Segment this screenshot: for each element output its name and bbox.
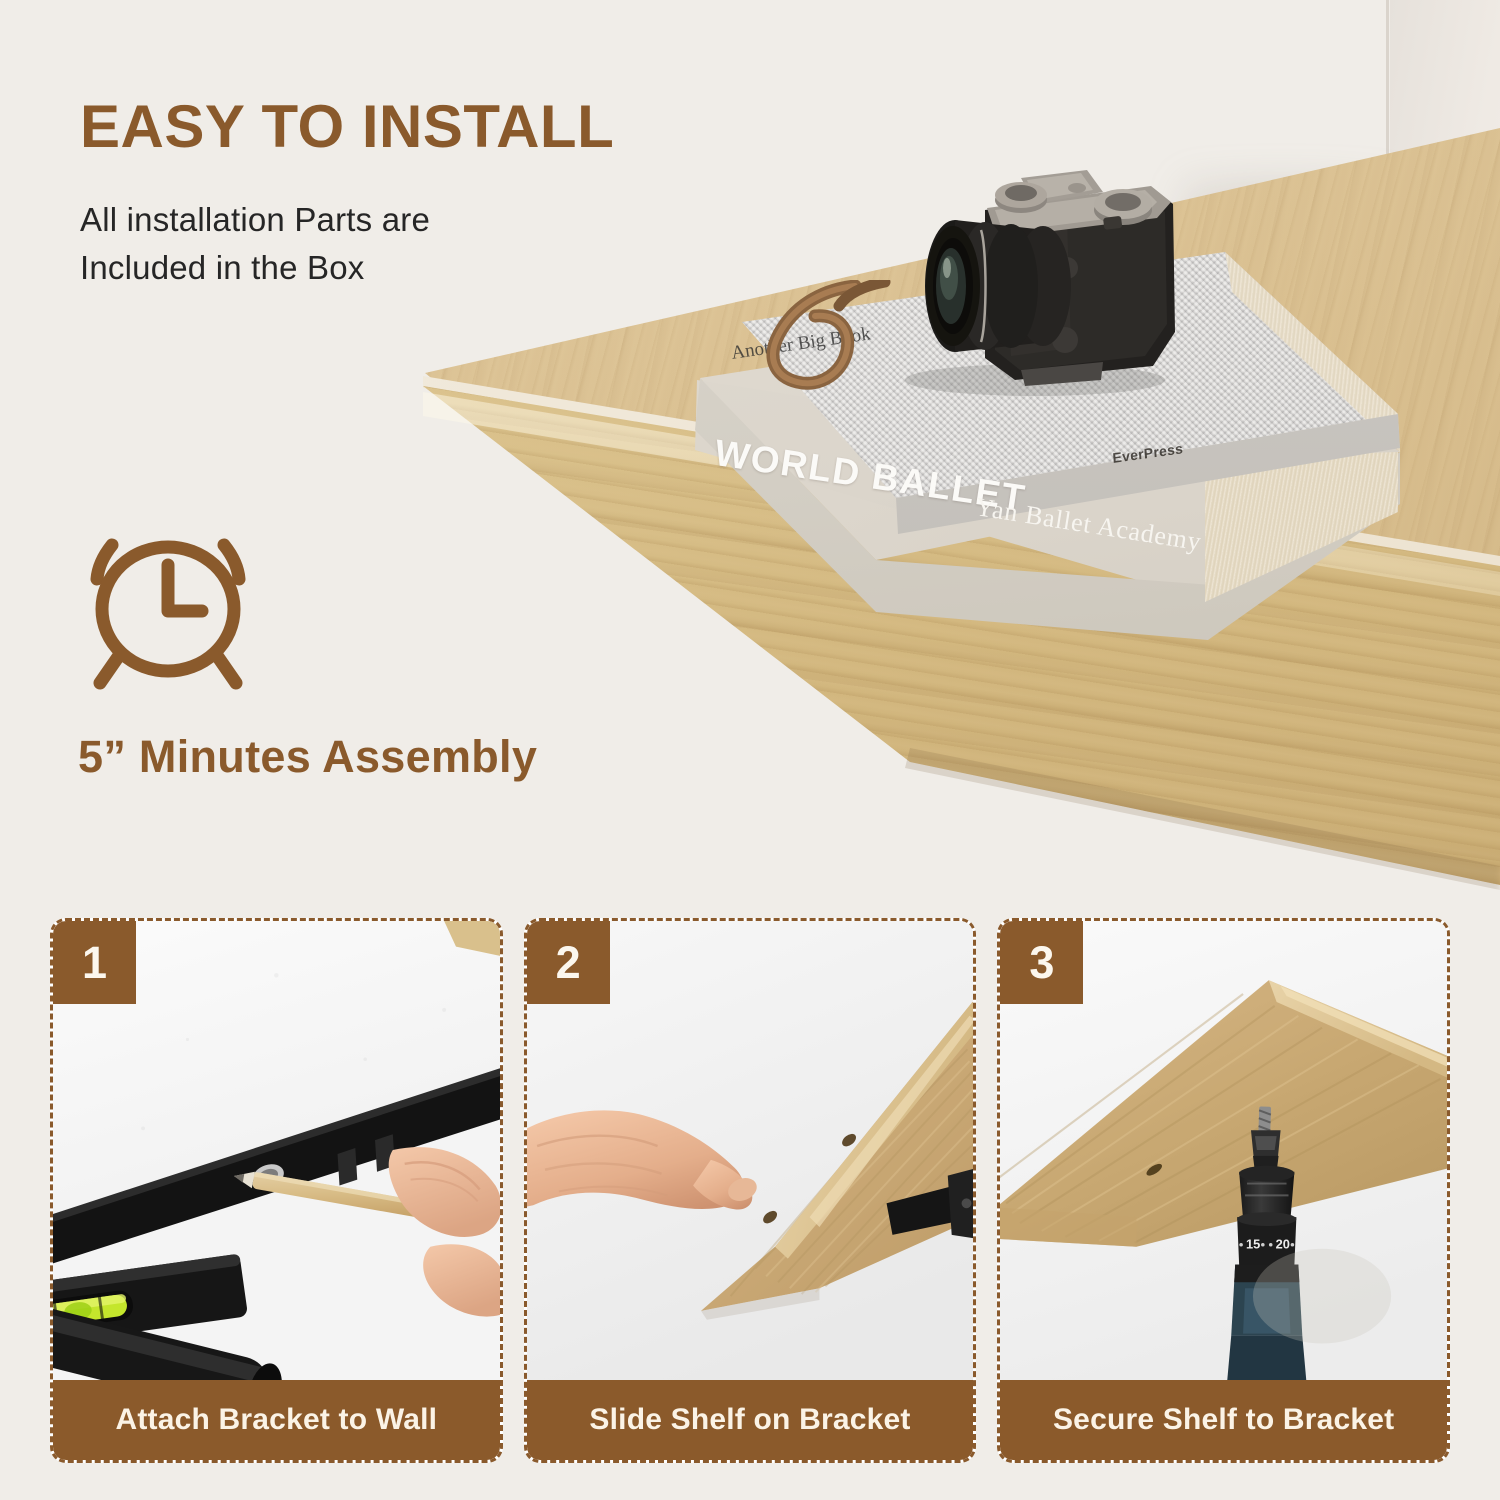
- step-number-badge-1: 1: [53, 921, 136, 1004]
- step-number-badge-2: 2: [527, 921, 610, 1004]
- svg-text:20: 20: [1276, 1237, 1290, 1252]
- camera-icon: [835, 118, 1205, 403]
- alarm-clock-icon: [78, 505, 258, 695]
- step-panel-1[interactable]: 1 Attach Bracket to Wall: [50, 918, 503, 1463]
- hero-section: Another Big Book EverPress WORLD BALLET …: [0, 0, 1500, 905]
- hero-subtitle-line1: All installation Parts are: [80, 196, 720, 244]
- page-title: EASY TO INSTALL: [80, 95, 720, 158]
- hero-text-block: EASY TO INSTALL All installation Parts a…: [80, 95, 720, 292]
- hero-subtitle: All installation Parts are Included in t…: [80, 196, 720, 292]
- hero-subtitle-line2: Included in the Box: [80, 244, 720, 292]
- svg-text:15: 15: [1246, 1237, 1260, 1252]
- installation-steps: 1 Attach Bracket to Wall: [0, 918, 1500, 1478]
- step-caption-2: Slide Shelf on Bracket: [527, 1380, 974, 1460]
- step-caption-1: Attach Bracket to Wall: [53, 1380, 500, 1460]
- step-panel-2[interactable]: 2 Slide Shelf on Bracket: [524, 918, 977, 1463]
- assembly-time-block: 5” Minutes Assembly: [78, 505, 537, 783]
- step-number-badge-3: 3: [1000, 921, 1083, 1004]
- step-panel-3[interactable]: 15 20 3 Secure Shelf to Bracket: [997, 918, 1450, 1463]
- step-caption-3: Secure Shelf to Bracket: [1000, 1380, 1447, 1460]
- assembly-time-label: 5” Minutes Assembly: [78, 731, 537, 783]
